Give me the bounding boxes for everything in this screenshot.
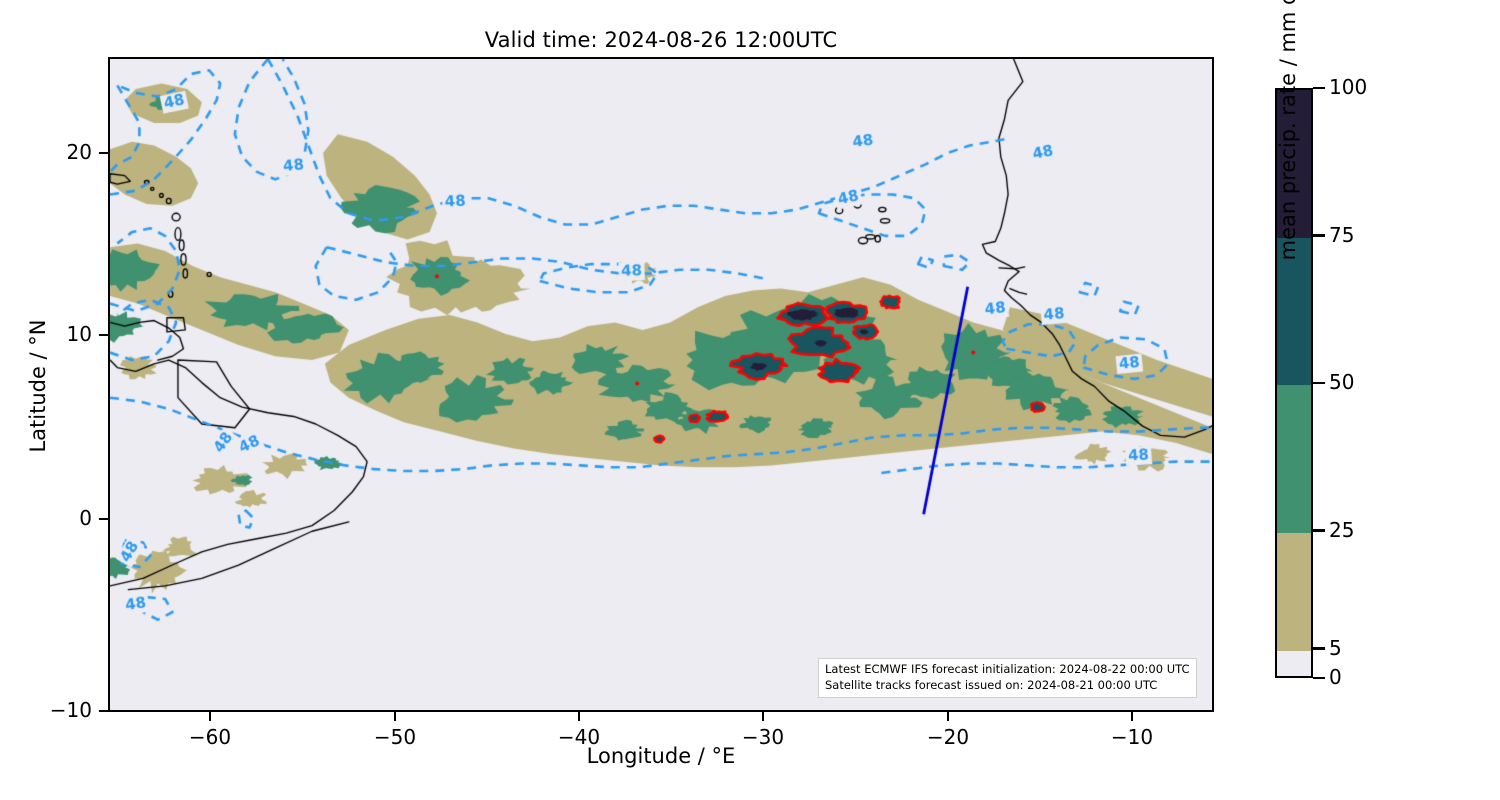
- colorbar-band-0-5: [1277, 651, 1311, 679]
- precipitation-map-canvas: [110, 59, 1212, 710]
- ytick-mark-0: [99, 518, 108, 520]
- colorbar-ticklabel-100: 100: [1329, 75, 1367, 99]
- map-plot-area[interactable]: [108, 57, 1214, 712]
- xtick-mark-minus10: [1131, 712, 1133, 721]
- annotation-line-2: Satellite tracks forecast issued on: 202…: [825, 678, 1190, 694]
- forecast-info-box: Latest ECMWF IFS forecast initialization…: [818, 658, 1197, 698]
- xtick-mark-minus60: [209, 712, 211, 721]
- x-axis-label: Longitude / °E: [108, 744, 1214, 768]
- page-title: Valid time: 2024-08-26 12:00UTC: [108, 28, 1214, 52]
- colorbar-axis-label: mean precip. rate / mm day−1: [1275, 0, 1300, 383]
- colorbar-ticklabel-0: 0: [1329, 665, 1342, 689]
- colorbar-tick-0: [1313, 677, 1325, 679]
- xtick-mark-minus40: [578, 712, 580, 721]
- ytick-mark-10: [99, 334, 108, 336]
- y-axis-label: Latitude / °N: [26, 256, 50, 516]
- xtick-mark-minus50: [394, 712, 396, 721]
- colorbar-band-5-25: [1277, 533, 1311, 651]
- ytick-label-20: 20: [0, 140, 92, 164]
- figure-root: Valid time: 2024-08-26 12:00UTC 20 10 0 …: [0, 0, 1500, 800]
- annotation-line-1: Latest ECMWF IFS forecast initialization…: [825, 662, 1190, 678]
- ytick-label-minus10: −10: [0, 698, 92, 722]
- colorbar-tick-5: [1313, 647, 1325, 649]
- colorbar-ticklabel-50: 50: [1329, 370, 1354, 394]
- colorbar-tick-100: [1313, 87, 1325, 89]
- xtick-mark-minus30: [762, 712, 764, 721]
- colorbar-ticklabel-75: 75: [1329, 223, 1354, 247]
- ytick-mark-minus10: [99, 710, 108, 712]
- colorbar-tick-25: [1313, 529, 1325, 531]
- colorbar-label-text: mean precip. rate / mm day: [1276, 0, 1300, 260]
- xtick-mark-minus20: [947, 712, 949, 721]
- colorbar-band-25-50: [1277, 385, 1311, 533]
- colorbar-tick-75: [1313, 234, 1325, 236]
- colorbar-ticklabel-25: 25: [1329, 518, 1354, 542]
- colorbar-ticklabel-5: 5: [1329, 636, 1342, 660]
- colorbar-tick-50: [1313, 382, 1325, 384]
- ytick-mark-20: [99, 152, 108, 154]
